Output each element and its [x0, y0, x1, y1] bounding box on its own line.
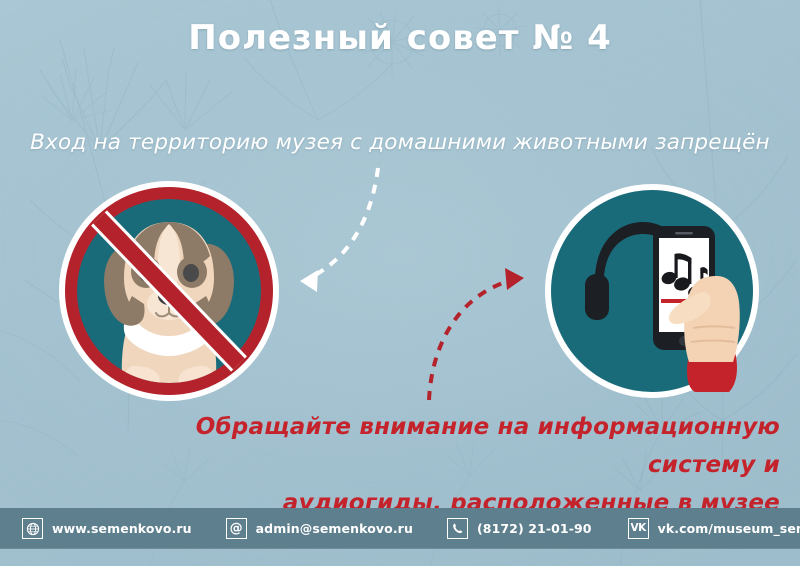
contact-email[interactable]: @ admin@semenkovo.ru [226, 518, 413, 539]
globe-icon [22, 518, 43, 539]
vk-label: vk.com/museum_semenkovo [658, 521, 800, 536]
contact-vk[interactable]: VK vk.com/museum_semenkovo [628, 518, 800, 539]
contact-phone[interactable]: (8172) 21-01-90 [447, 518, 592, 539]
email-label: admin@semenkovo.ru [256, 521, 413, 536]
vk-glyph: VK [630, 523, 645, 534]
white-dashed-arrow [300, 168, 378, 292]
email-icon: @ [226, 518, 247, 539]
phone-icon [447, 518, 468, 539]
phone-label: (8172) 21-01-90 [477, 521, 592, 536]
red-note: Обращайте внимание на информационную сис… [150, 408, 780, 522]
red-dashed-arrow [429, 268, 524, 400]
red-note-line1: Обращайте внимание на информационную сис… [196, 414, 780, 478]
contact-website[interactable]: www.semenkovo.ru [22, 518, 192, 539]
poster-root: Полезный совет № 4 Вход на территорию му… [0, 0, 800, 566]
vk-icon: VK [628, 518, 649, 539]
website-label: www.semenkovo.ru [52, 521, 192, 536]
no-pets-sign [58, 180, 280, 402]
footer-bar: www.semenkovo.ru @ admin@semenkovo.ru (8… [0, 508, 800, 549]
audio-guide-icon [543, 182, 761, 400]
